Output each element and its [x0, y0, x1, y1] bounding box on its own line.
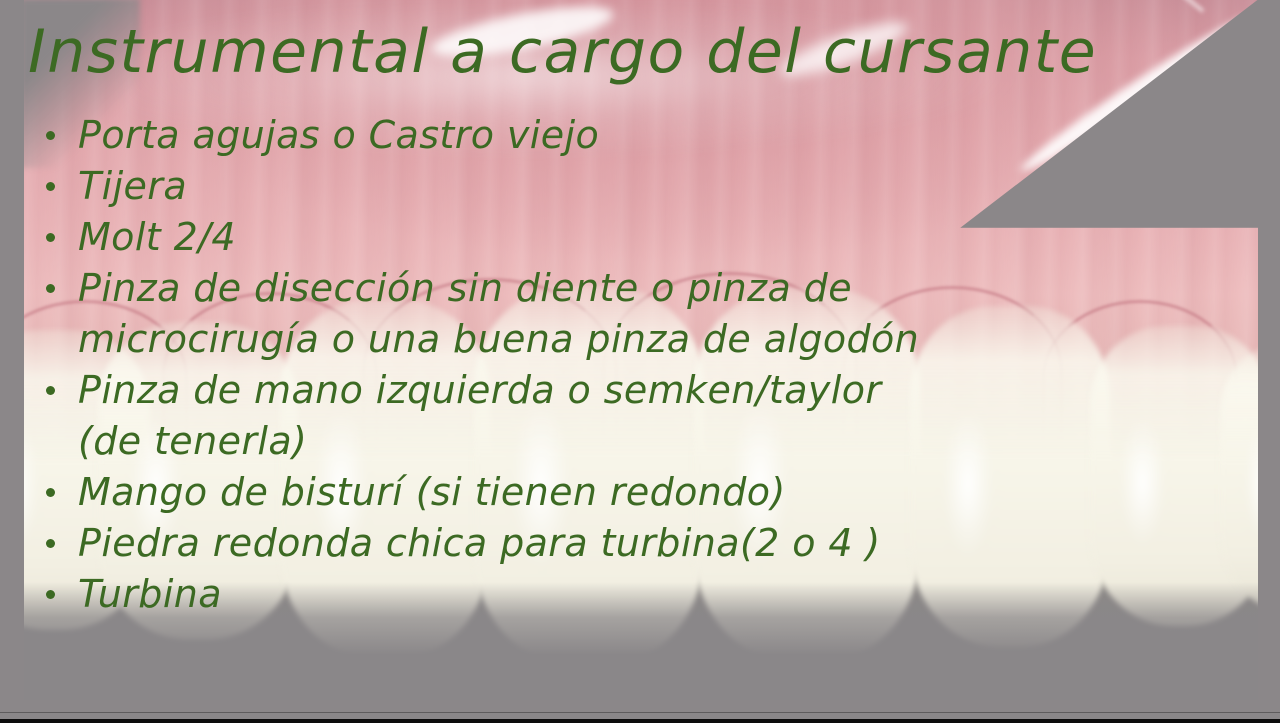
list-item: Tijera [38, 161, 1228, 212]
list-item-label-wrap: (de tenerla) [78, 416, 1228, 467]
list-item-label: Turbina [78, 569, 1228, 620]
presentation-slide: Instrumental a cargo del cursante Porta … [0, 0, 1280, 723]
list-item-label: Tijera [78, 161, 1228, 212]
bullet-dot-icon [46, 488, 55, 497]
list-item: Porta agujas o Castro viejo [38, 110, 1228, 161]
bullet-dot-icon [46, 182, 55, 191]
list-item-label: Porta agujas o Castro viejo [78, 110, 1228, 161]
list-item-label: Pinza de mano izquierda o semken/taylor [78, 365, 1228, 416]
slide-content: Instrumental a cargo del cursante Porta … [0, 0, 1280, 723]
list-item: Molt 2/4 [38, 212, 1228, 263]
list-item: Pinza de mano izquierda o semken/taylor … [38, 365, 1228, 467]
list-item-label: Molt 2/4 [78, 212, 1228, 263]
list-item-label: Piedra redonda chica para turbina(2 o 4 … [78, 518, 1228, 569]
list-item: Turbina [38, 569, 1228, 620]
bullet-dot-icon [46, 539, 55, 548]
list-item-label-wrap: microcirugía o una buena pinza de algodó… [78, 314, 1228, 365]
bullet-dot-icon [46, 590, 55, 599]
instrument-list: Porta agujas o Castro viejo Tijera Molt … [38, 110, 1228, 620]
slide-title: Instrumental a cargo del cursante [28, 18, 1228, 86]
bullet-dot-icon [46, 284, 55, 293]
bullet-dot-icon [46, 233, 55, 242]
list-item-label: Mango de bisturí (si tienen redondo) [78, 467, 1228, 518]
bullet-dot-icon [46, 386, 55, 395]
list-item-label: Pinza de disección sin diente o pinza de [78, 263, 1228, 314]
bullet-dot-icon [46, 131, 55, 140]
list-item: Piedra redonda chica para turbina(2 o 4 … [38, 518, 1228, 569]
list-item: Mango de bisturí (si tienen redondo) [38, 467, 1228, 518]
list-item: Pinza de disección sin diente o pinza de… [38, 263, 1228, 365]
